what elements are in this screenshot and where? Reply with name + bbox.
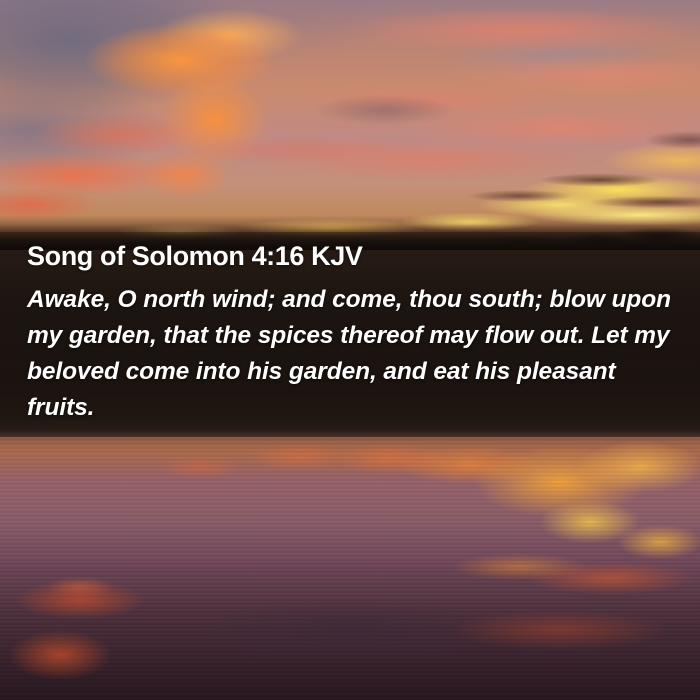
verse-body-text: Awake, O north wind; and come, thou sout…: [27, 282, 677, 426]
verse-text-block: Song of Solomon 4:16 KJV Awake, O north …: [27, 240, 677, 426]
verse-reference: Song of Solomon 4:16 KJV: [27, 240, 677, 272]
verse-image-card: Song of Solomon 4:16 KJV Awake, O north …: [0, 0, 700, 700]
water-ripple-texture: [0, 437, 700, 700]
water-surface: [0, 437, 700, 700]
water-lower-cloud-reflection: [0, 560, 700, 700]
water-golden-reflection: [0, 437, 700, 617]
